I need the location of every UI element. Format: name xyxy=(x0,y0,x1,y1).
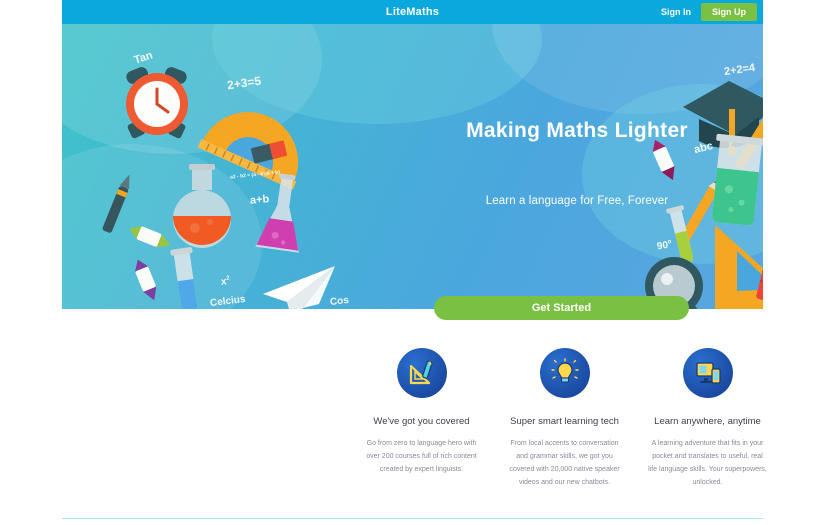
hero-copy: Making Maths Lighter Learn a language fo… xyxy=(407,119,747,207)
feature-title: We've got you covered xyxy=(350,416,493,427)
get-started-button[interactable]: Get Started xyxy=(434,296,689,320)
lightbulb-icon xyxy=(540,348,590,398)
ruler-pencil-icon xyxy=(397,348,447,398)
sign-in-link[interactable]: Sign In xyxy=(661,7,691,17)
sign-up-button[interactable]: Sign Up xyxy=(701,3,757,21)
hero-formula-text: 90o xyxy=(656,239,672,253)
hero-formula-text: Cos xyxy=(329,295,349,308)
feature-card-anywhere: Learn anywhere, anytime A learning adven… xyxy=(636,348,779,490)
conical-flask-icon xyxy=(249,171,316,260)
footer-divider xyxy=(62,518,763,519)
hero-banner: ABC Tan2+3=5a2 - b2 = (a - b)(a + b)a+bx… xyxy=(62,24,763,309)
feature-title: Learn anywhere, anytime xyxy=(636,416,779,427)
site-header: LiteMaths Sign In Sign Up xyxy=(62,0,763,24)
feature-card-smart-tech: Super smart learning tech From local acc… xyxy=(493,348,636,490)
alarm-clock-icon xyxy=(117,64,197,144)
hero-formula-text: a+b xyxy=(250,193,270,207)
feature-body: A learning adventure that fits in your p… xyxy=(636,438,779,490)
feature-title: Super smart learning tech xyxy=(493,416,636,427)
devices-icon xyxy=(683,348,733,398)
features-section: We've got you covered Go from zero to la… xyxy=(350,348,780,490)
round-flask-icon xyxy=(165,164,239,250)
paper-plane-icon xyxy=(257,264,337,309)
hero-title: Making Maths Lighter xyxy=(407,119,747,143)
header-actions: Sign In Sign Up xyxy=(661,0,757,24)
brand-logo: LiteMaths xyxy=(386,6,439,18)
feature-body: From local accents to conversation and g… xyxy=(493,438,636,490)
hero-subtitle: Learn a language for Free, Forever xyxy=(407,195,747,207)
feature-card-covered: We've got you covered Go from zero to la… xyxy=(350,348,493,490)
hero-formula-text: x2 xyxy=(220,276,230,288)
feature-body: Go from zero to language hero with over … xyxy=(350,438,493,477)
landing-page: LiteMaths Sign In Sign Up xyxy=(0,0,825,525)
